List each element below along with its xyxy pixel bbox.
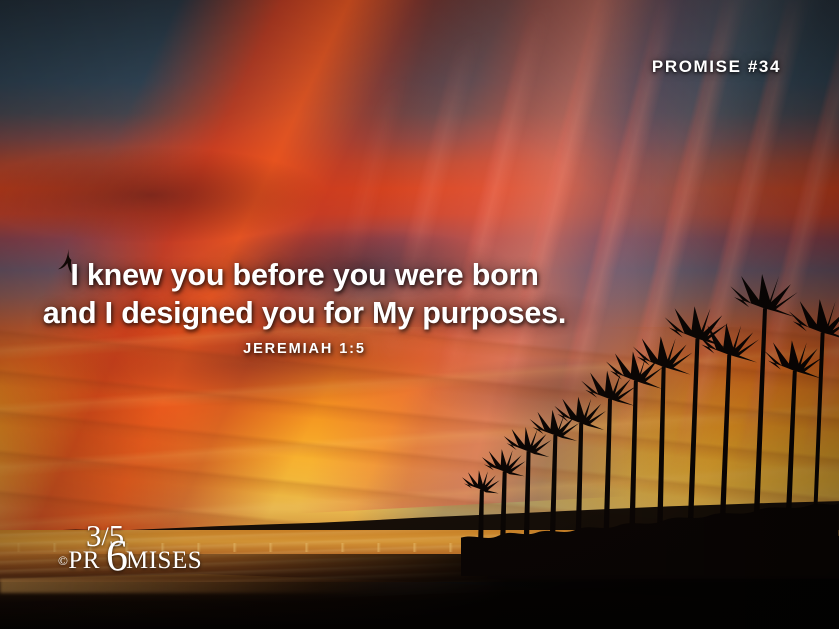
logo-word-start: PR: [68, 547, 100, 574]
logo-promises-word: ©PRMISES: [58, 548, 202, 573]
verse-reference: JEREMIAH 1:5: [0, 341, 609, 357]
verse-line-1: I knew you before you were born: [0, 256, 609, 294]
verse-line-2: and I designed you for My purposes.: [0, 294, 609, 332]
scripture-poster: PROMISE #34 I knew you before you were b…: [0, 0, 839, 629]
brand-logo-365-promises: 3/5 6 ©PRMISES: [58, 522, 188, 580]
promise-number-label: PROMISE #34: [652, 57, 781, 77]
copyright-icon: ©: [58, 553, 68, 568]
verse-block: I knew you before you were born and I de…: [0, 256, 839, 357]
logo-word-end: MISES: [126, 547, 202, 574]
